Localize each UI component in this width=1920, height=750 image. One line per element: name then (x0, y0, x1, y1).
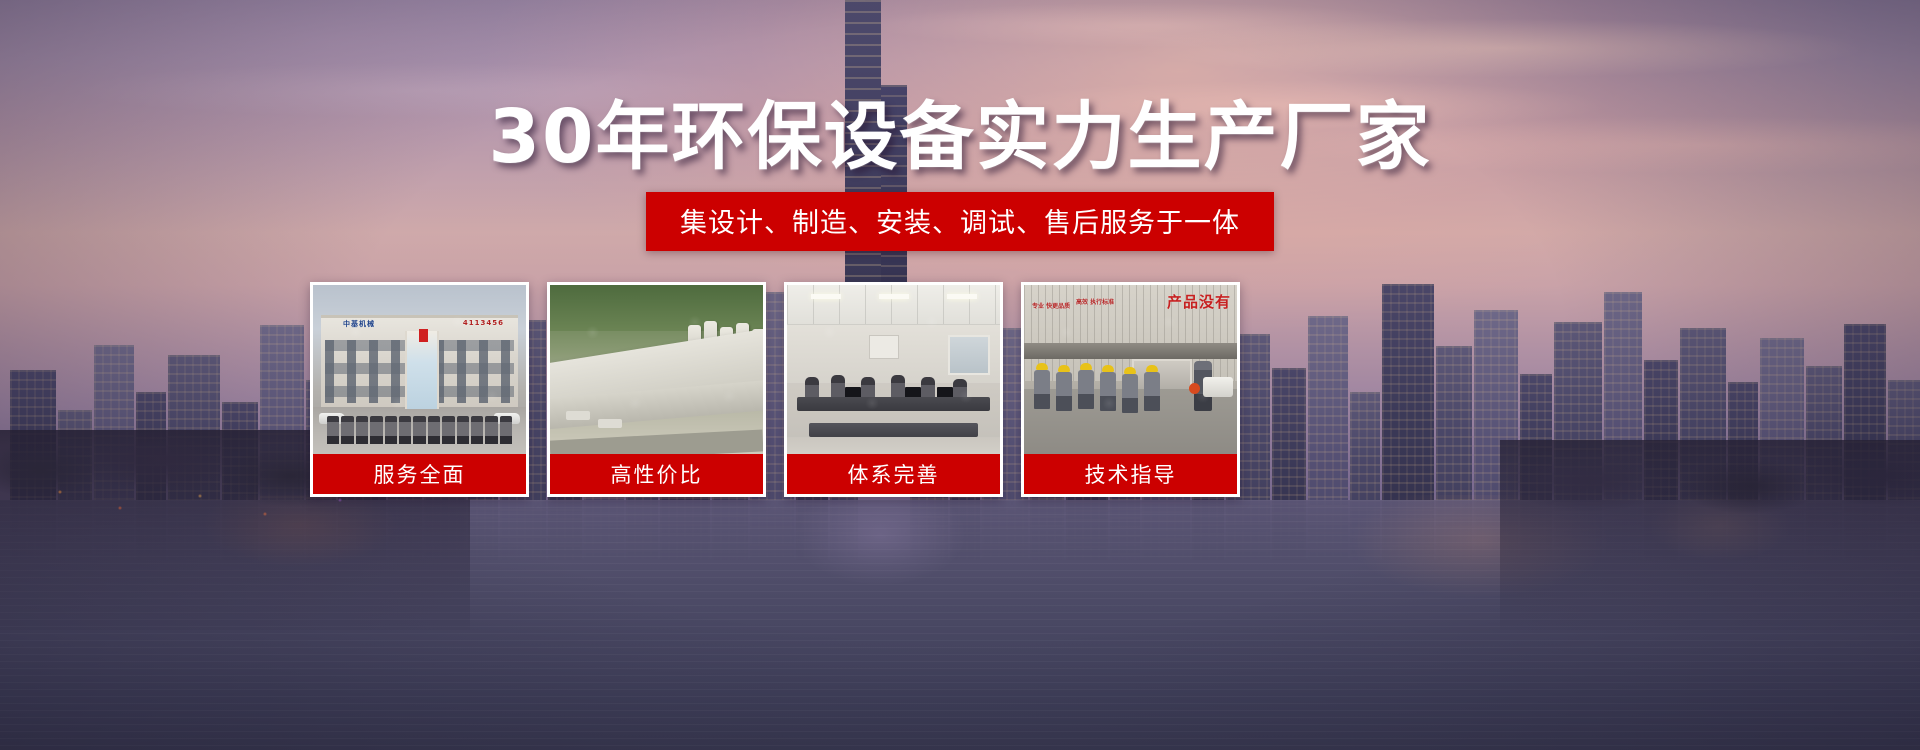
factory-slogan-right: 高效 执行标准 (1076, 299, 1114, 307)
card-caption: 体系完善 (787, 454, 1000, 494)
subtitle-text: 集设计、制造、安装、调试、售后服务于一体 (680, 201, 1240, 240)
building-sign-text: 中基机械 (343, 319, 375, 329)
watermark-overlay (787, 285, 1000, 454)
promo-banner: 30年环保设备实力生产厂家 集设计、制造、安装、调试、售后服务于一体 中基机械 … (0, 0, 1920, 750)
feature-card-list: 中基机械 4113456 服务全面 (310, 282, 1552, 497)
card-caption: 高性价比 (550, 454, 763, 494)
feature-card[interactable]: 体系完善 (784, 282, 1003, 497)
card-photo: 中基机械 4113456 (313, 285, 526, 454)
card-photo: 专业 快更品质 高效 执行标准 产品没有 (1024, 285, 1237, 454)
card-photo (550, 285, 763, 454)
page-title: 30年环保设备实力生产厂家 (0, 100, 1920, 174)
card-photo (787, 285, 1000, 454)
building-phone-text: 4113456 (463, 319, 504, 327)
factory-slogan-left: 专业 快更品质 (1032, 303, 1070, 311)
flag-icon (419, 329, 428, 342)
factory-banner-text: 产品没有 (1167, 291, 1231, 312)
feature-card[interactable]: 专业 快更品质 高效 执行标准 产品没有 (1021, 282, 1240, 497)
card-caption: 服务全面 (313, 454, 526, 494)
feature-card[interactable]: 高性价比 (547, 282, 766, 497)
watermark-overlay (550, 285, 763, 454)
card-caption: 技术指导 (1024, 454, 1237, 494)
subtitle-banner: 集设计、制造、安装、调试、售后服务于一体 (646, 192, 1274, 251)
feature-card[interactable]: 中基机械 4113456 服务全面 (310, 282, 529, 497)
